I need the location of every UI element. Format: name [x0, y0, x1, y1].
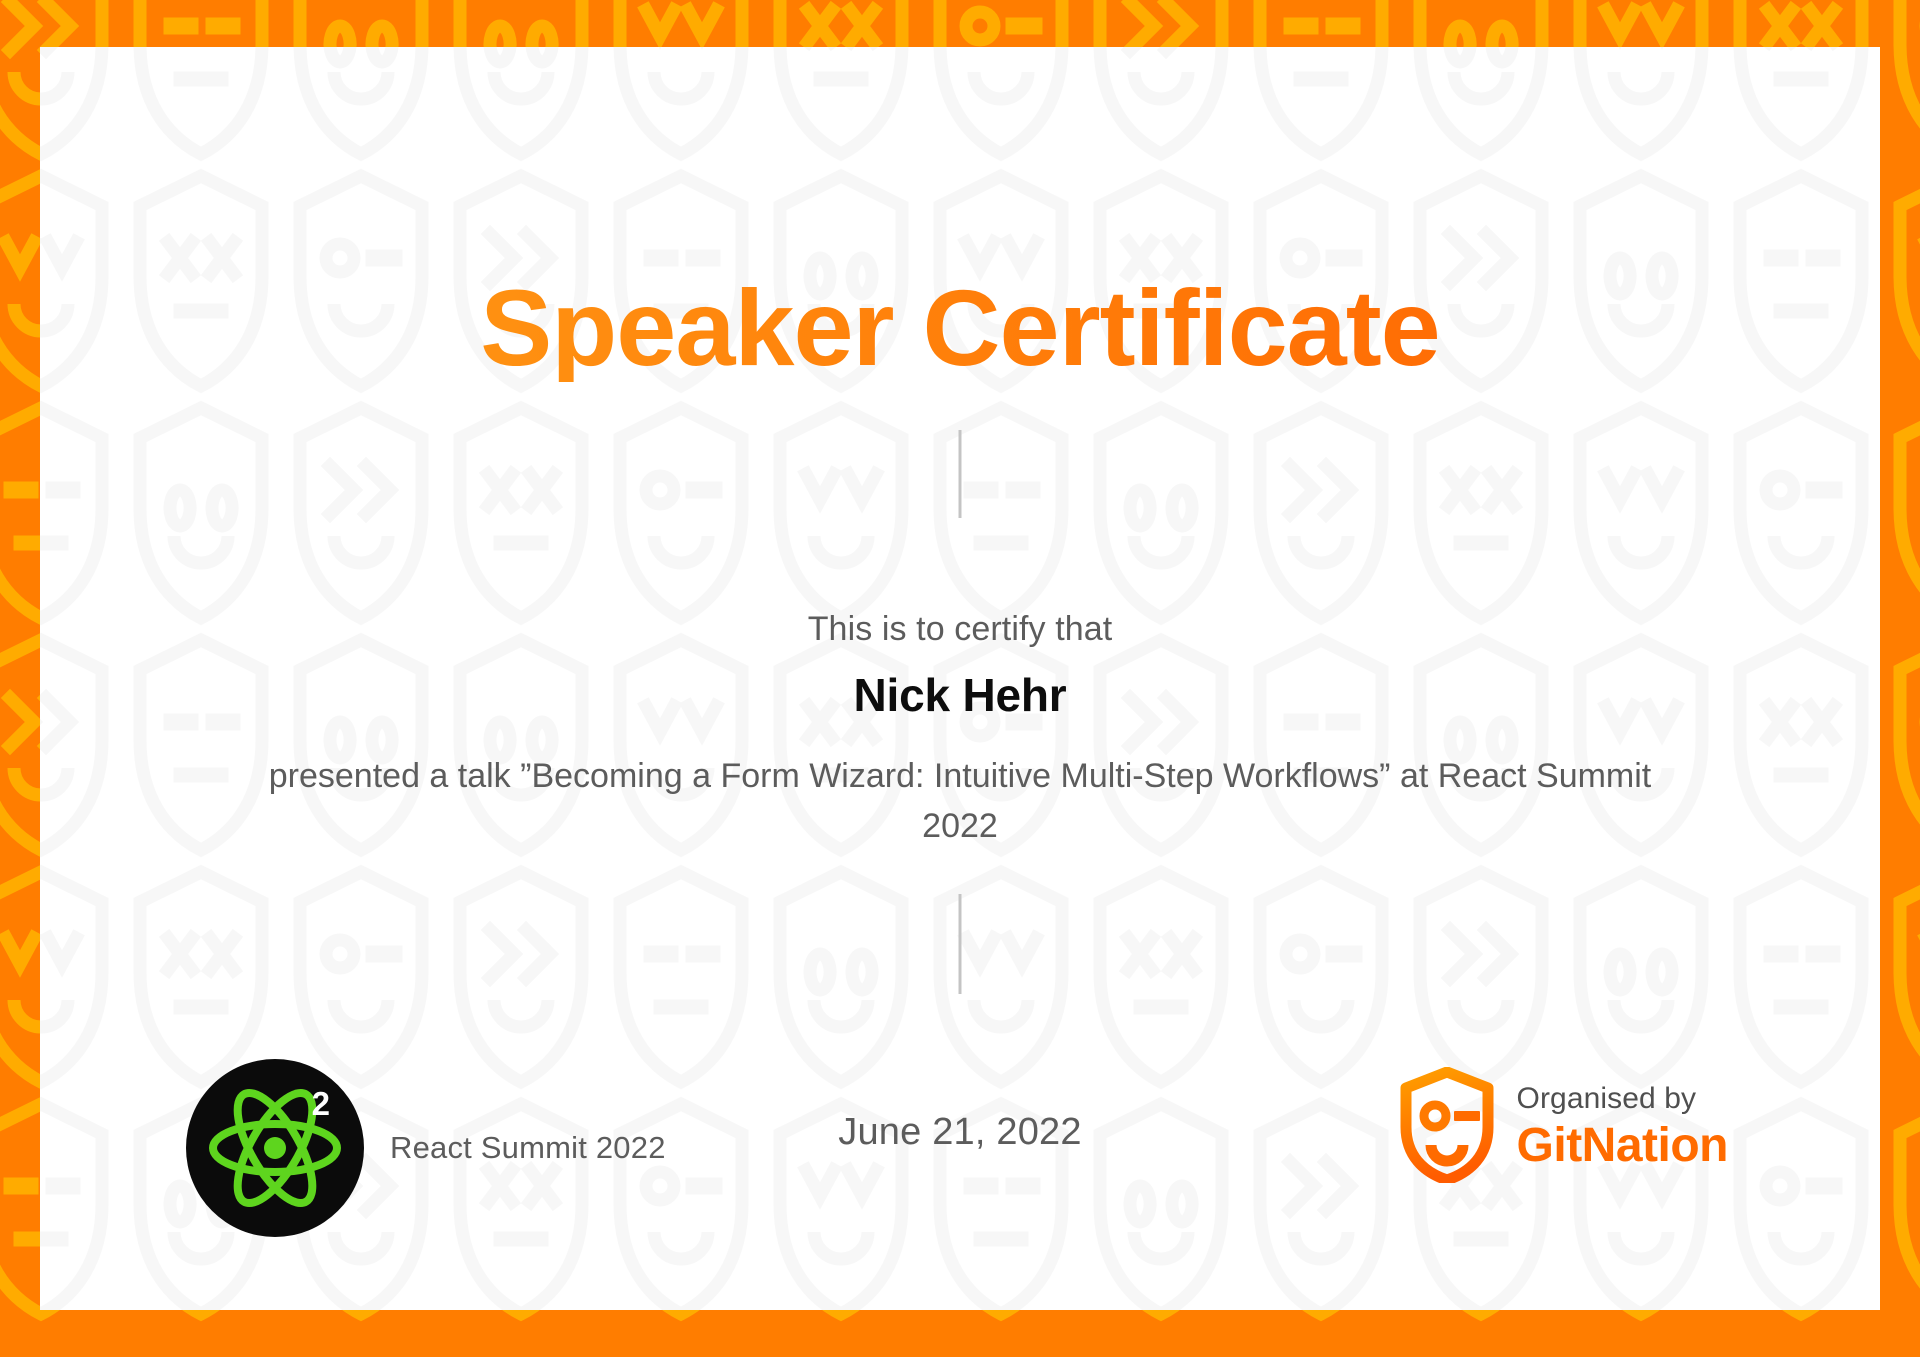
divider-bottom	[959, 894, 962, 994]
certificate: Speaker Certificate This is to certify t…	[0, 0, 1920, 1357]
organiser-block: Organised by GitNation	[1399, 1067, 1728, 1188]
gitnation-shield-face-icon	[1399, 1067, 1495, 1188]
organised-by-label: Organised by	[1517, 1083, 1728, 1115]
divider-top	[959, 430, 962, 518]
certify-line: This is to certify that	[40, 610, 1880, 649]
talk-statement: presented a talk ”Becoming a Form Wizard…	[230, 751, 1690, 851]
page-title: Speaker Certificate	[40, 274, 1880, 382]
certificate-footer: 2 React Summit 2022 June 21, 2022	[40, 1047, 1880, 1247]
recipient-name: Nick Hehr	[40, 668, 1880, 722]
organiser-text: Organised by GitNation	[1517, 1083, 1728, 1171]
certificate-card: Speaker Certificate This is to certify t…	[40, 47, 1880, 1310]
organiser-name: GitNation	[1517, 1120, 1728, 1172]
